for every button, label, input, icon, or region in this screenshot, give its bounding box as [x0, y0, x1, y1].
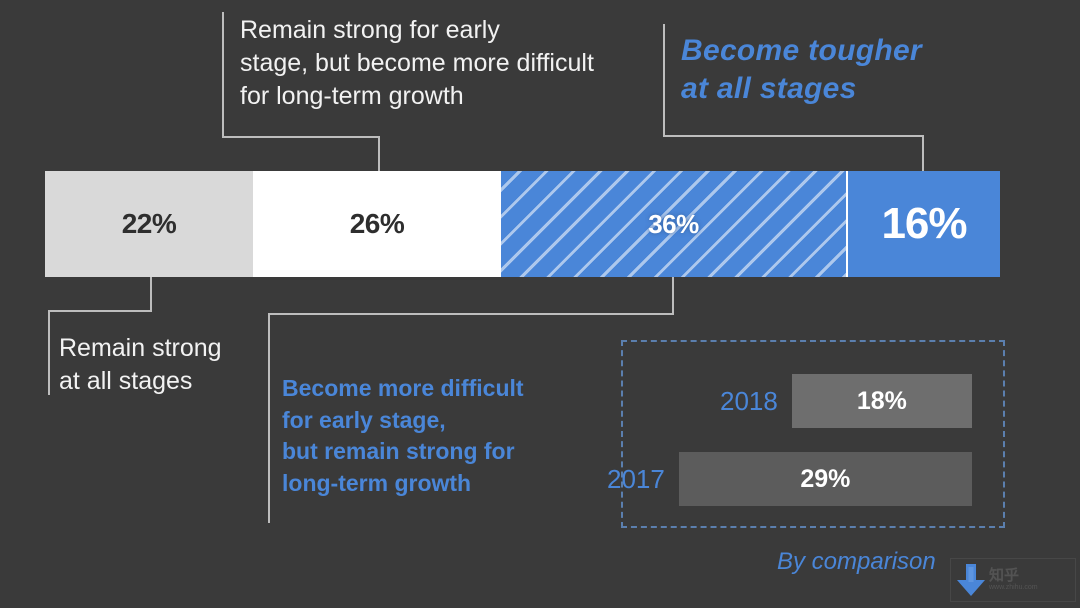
bar-segment-tougher-all-stages[interactable]: 16% — [848, 171, 1000, 277]
connector-top-right-vertical-upper — [663, 24, 665, 137]
callout-more-difficult-early-stage: Become more difficult for early stage, b… — [282, 373, 582, 500]
connector-top-right-horizontal — [663, 135, 924, 137]
comparison-panel: 2018 18% 2017 29% — [621, 340, 1005, 528]
callout-become-tougher-all-stages: Become tougher at all stages — [681, 32, 1011, 109]
comparison-year-2018: 2018 — [720, 386, 778, 417]
stacked-bar-chart: 22% 26% 36% 16% — [45, 171, 1000, 277]
bar-segment-remain-strong-early-stage[interactable]: 26% — [253, 171, 501, 277]
bar-segment-value-26: 26% — [350, 208, 405, 240]
connector-bottom-left-vertical-upper — [150, 277, 152, 312]
connector-top-left-vertical-upper — [222, 12, 224, 138]
callout-remain-strong-early-stage: Remain strong for early stage, but becom… — [240, 14, 640, 113]
connector-bottom-center-horizontal — [268, 313, 674, 315]
connector-bottom-center-vertical-upper — [672, 277, 674, 315]
bar-segment-value-22: 22% — [122, 208, 177, 240]
callout-remain-strong-all-stages: Remain strong at all stages — [59, 332, 289, 398]
connector-top-right-vertical-lower — [922, 135, 924, 171]
comparison-row-2018[interactable]: 2018 18% — [720, 374, 972, 428]
comparison-year-2017: 2017 — [607, 464, 665, 495]
comparison-row-2017[interactable]: 2017 29% — [607, 452, 972, 506]
bar-segment-value-16: 16% — [881, 199, 966, 249]
bar-segment-remain-strong-all-stages[interactable]: 22% — [45, 171, 253, 277]
connector-top-left-horizontal — [222, 136, 380, 138]
infographic-canvas: 22% 26% 36% 16% Remain strong for early … — [0, 0, 1080, 608]
watermark: 知乎www.zhihu.com — [950, 558, 1076, 602]
by-comparison-caption: By comparison — [777, 548, 936, 576]
connector-bottom-left-vertical-lower — [48, 310, 50, 395]
watermark-subtext: www.zhihu.com — [989, 584, 1038, 591]
connector-top-left-vertical-lower — [378, 136, 380, 171]
download-arrow-icon — [955, 562, 987, 598]
comparison-value-2017: 29% — [800, 465, 850, 494]
watermark-text: 知乎www.zhihu.com — [989, 568, 1038, 591]
bar-segment-value-36: 36% — [648, 209, 699, 240]
bar-segment-more-difficult-early-stage[interactable]: 36% — [501, 171, 848, 277]
connector-bottom-left-horizontal — [48, 310, 152, 312]
comparison-bar-2017: 29% — [679, 452, 972, 506]
comparison-bar-2018: 18% — [792, 374, 972, 428]
comparison-value-2018: 18% — [857, 387, 907, 416]
